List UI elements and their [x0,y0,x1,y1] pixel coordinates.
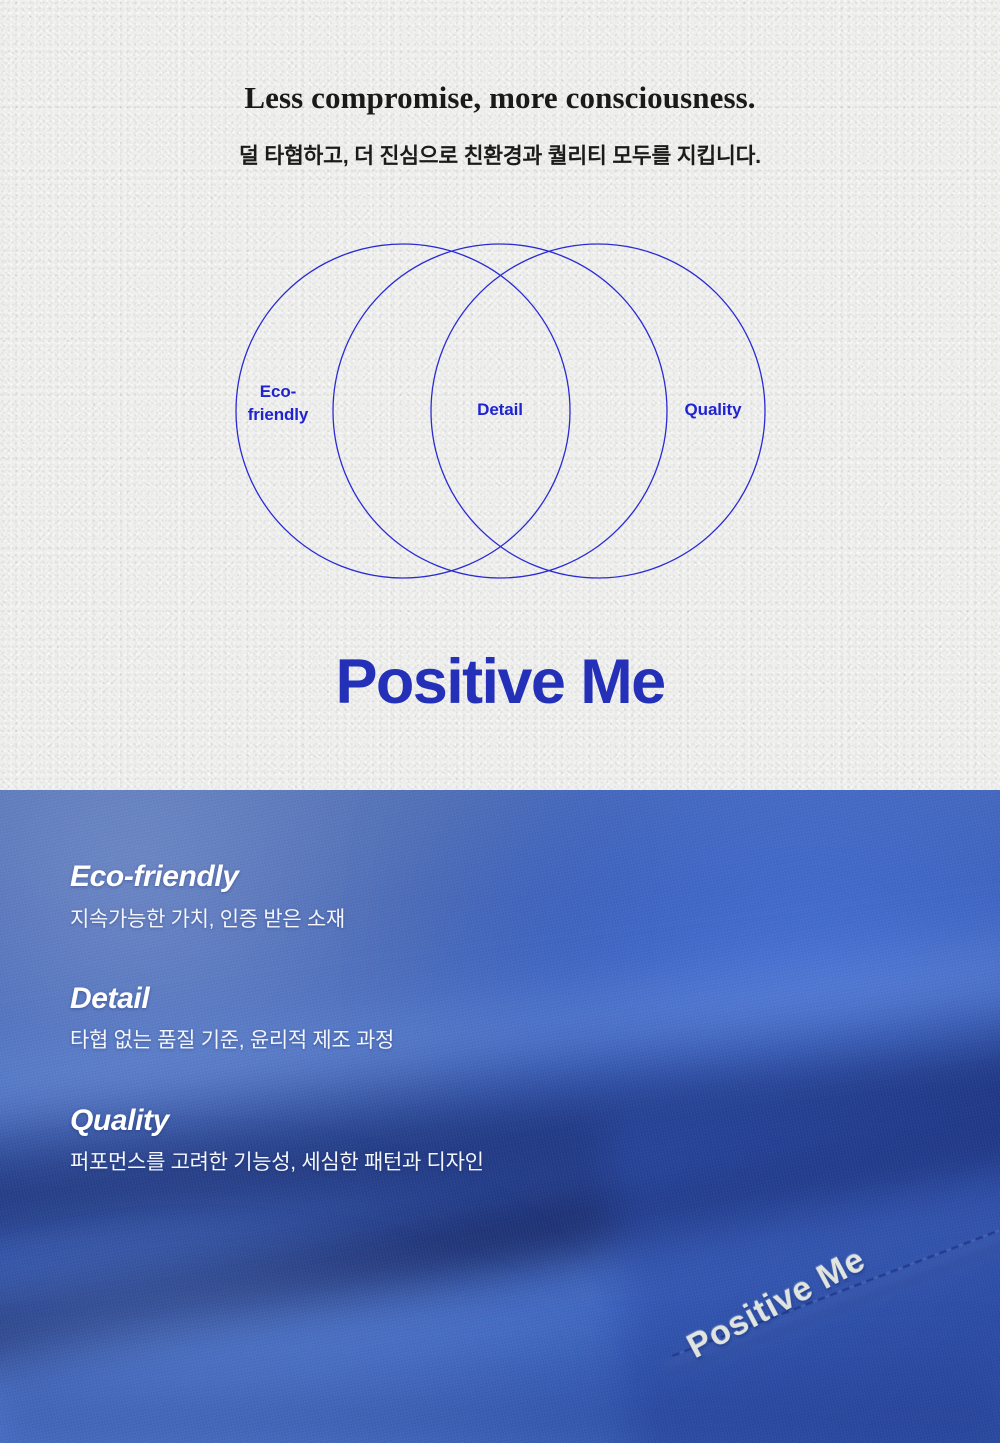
feature-description: 지속가능한 가치, 인증 받은 소재 [70,906,770,934]
intro-section: Less compromise, more consciousness. 덜 타… [0,0,1000,790]
feature-title: Detail [70,982,770,1017]
feature-description: 퍼포먼스를 고려한 기능성, 세심한 패턴과 디자인 [70,1149,770,1177]
feature-item-detail: Detail 타협 없는 품질 기준, 윤리적 제조 과정 [70,982,770,1056]
page-root: Less compromise, more consciousness. 덜 타… [0,0,1000,1443]
feature-list: Eco-friendly 지속가능한 가치, 인증 받은 소재 Detail 타… [70,860,770,1178]
brand-logo: Positive Me [0,646,1000,718]
venn-label-eco: Eco- friendly [228,381,328,427]
feature-title: Quality [70,1104,770,1139]
feature-description: 타협 없는 품질 기준, 윤리적 제조 과정 [70,1027,770,1055]
fabric-bottom-shade [0,1323,1000,1443]
feature-item-quality: Quality 퍼포먼스를 고려한 기능성, 세심한 패턴과 디자인 [70,1104,770,1178]
venn-label-quality: Quality [663,399,763,422]
feature-title: Eco-friendly [70,860,770,895]
feature-item-eco-friendly: Eco-friendly 지속가능한 가치, 인증 받은 소재 [70,860,770,934]
venn-label-detail: Detail [450,399,550,422]
